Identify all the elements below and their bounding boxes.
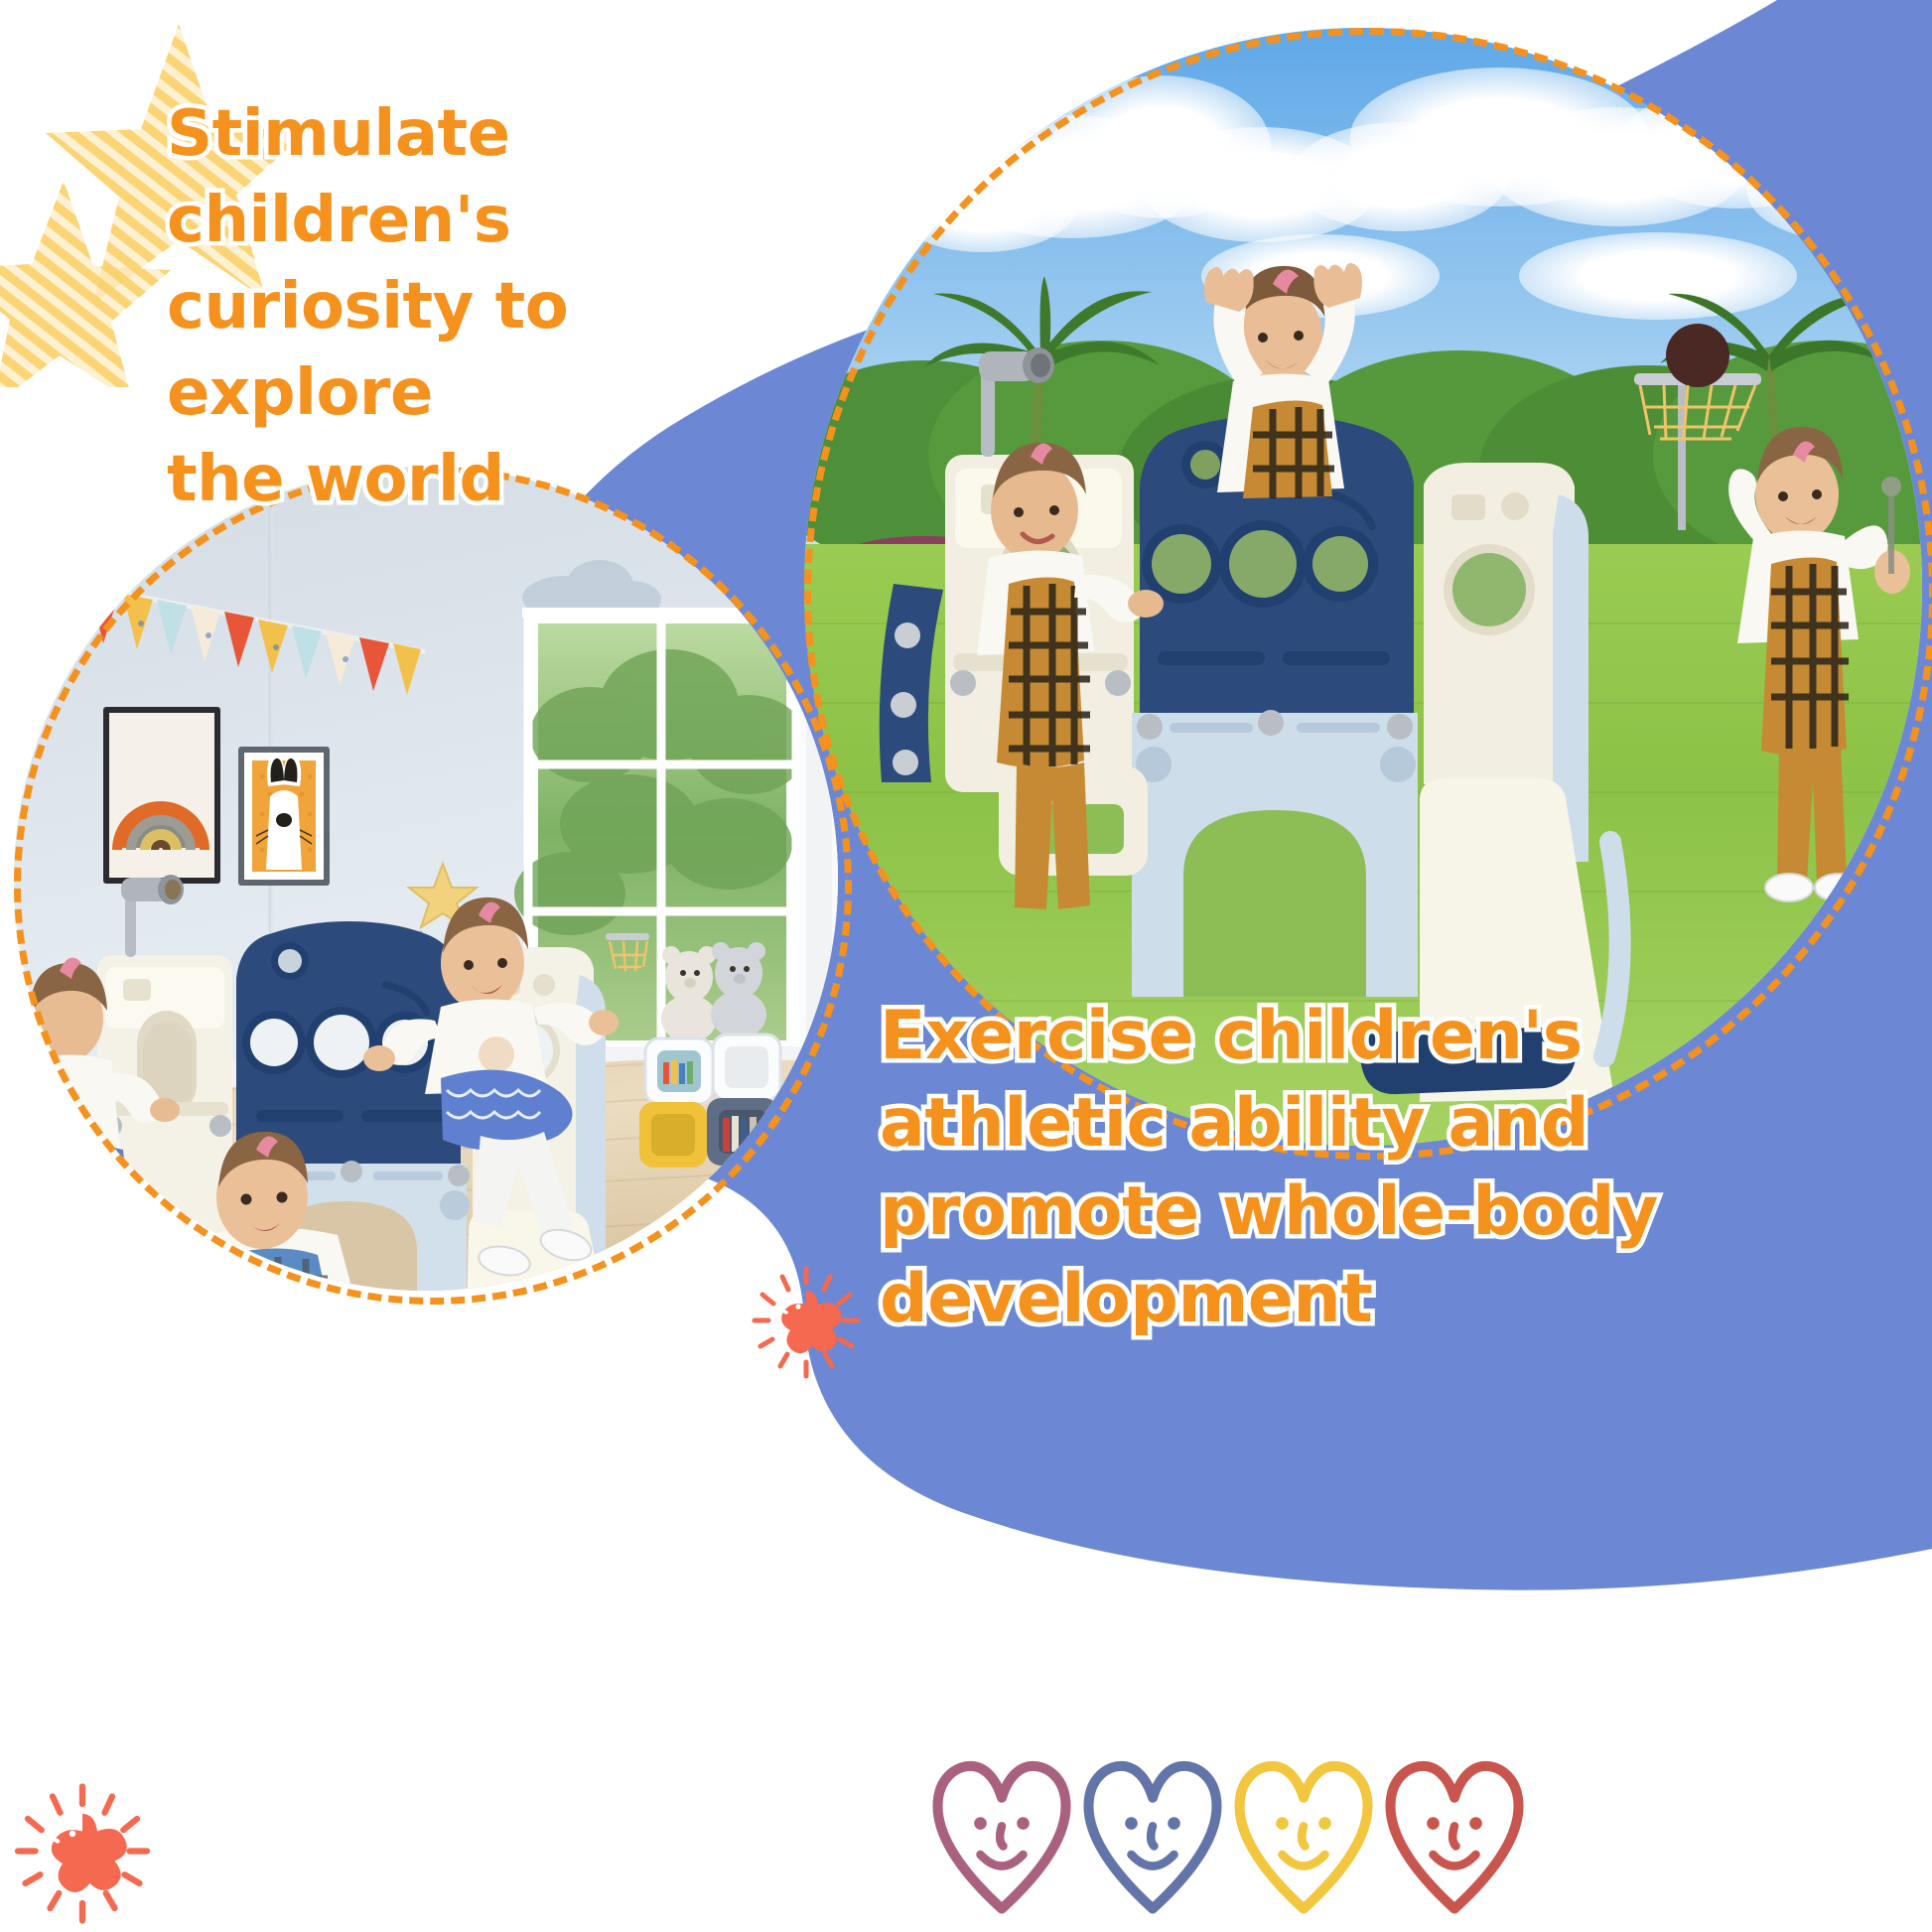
headline-top-line3: the world: [167, 437, 812, 523]
coral-sparkle-star-icon: [8, 1779, 157, 1928]
headline-bottom: Exercise children's athletic ability and…: [880, 993, 1882, 1344]
photo-outdoor-playground: [804, 28, 1922, 1146]
headline-top: Stimulate children's curiosity to explor…: [167, 91, 812, 523]
headline-bottom-line1: Exercise children's: [880, 993, 1882, 1080]
smiley-hearts-row: [923, 1702, 1539, 1920]
smiley-heart-mauve-icon: [923, 1749, 1080, 1920]
outdoor-playground-illustration: [804, 28, 1922, 1146]
smiley-heart-yellow-icon: [1225, 1749, 1382, 1920]
headline-top-line1: Stimulate children's: [167, 91, 812, 264]
coral-sparkle-star-icon: [747, 1263, 866, 1382]
promo-banner: Stimulate children's curiosity to explor…: [0, 0, 1932, 1932]
headline-bottom-line4: development: [880, 1256, 1882, 1343]
headline-top-line2: curiosity to explore: [167, 264, 812, 437]
headline-bottom-line3: promote whole-body: [880, 1169, 1882, 1256]
photo-indoor-playroom: [14, 467, 838, 1291]
indoor-playroom-illustration: [14, 467, 838, 1291]
smiley-heart-slate-blue-icon: [1074, 1749, 1231, 1920]
smiley-heart-red-icon: [1376, 1749, 1533, 1920]
headline-bottom-line2: athletic ability and: [880, 1080, 1882, 1168]
